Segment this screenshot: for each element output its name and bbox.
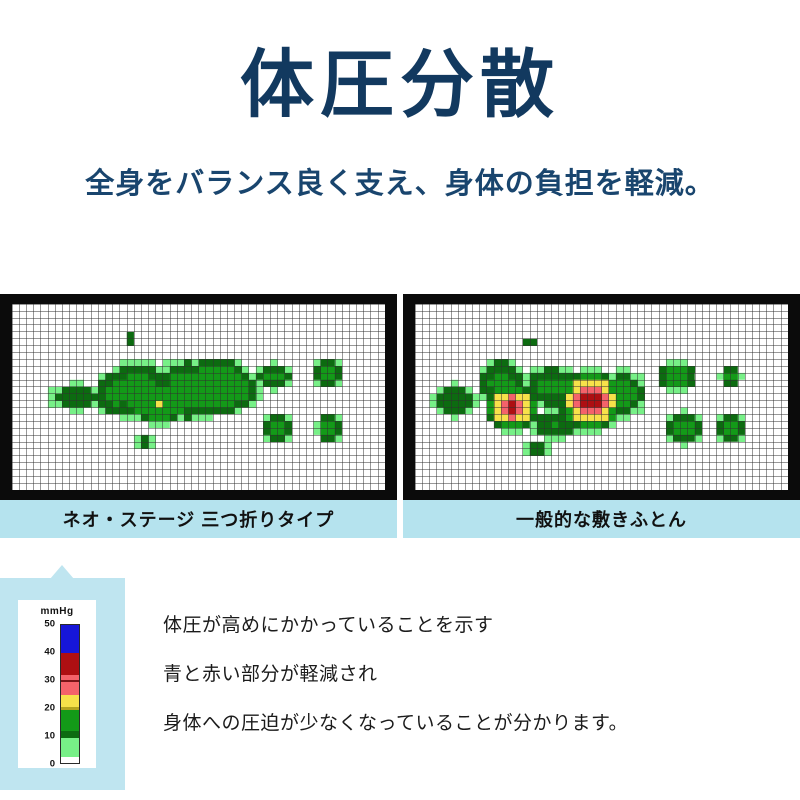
legend-tick-10: 10	[44, 731, 55, 742]
legend-band-green	[61, 710, 79, 731]
description-line-3: 身体への圧迫が少なくなっていることが分かります。	[163, 714, 773, 733]
legend-unit-label: mmHg	[18, 606, 96, 617]
description-line-2: 青と赤い部分が軽減され	[163, 665, 773, 684]
panel-caption-neo-stage: ネオ・ステージ 三つ折りタイプ	[0, 500, 397, 538]
legend-band-blue	[61, 625, 79, 653]
legend-band-dark-red	[61, 653, 79, 675]
legend-band-white	[61, 757, 79, 764]
legend-tick-0: 0	[50, 759, 55, 770]
panel-caption-standard-futon: 一般的な敷きふとん	[403, 500, 800, 538]
panel-standard-futon: 一般的な敷きふとん	[403, 294, 800, 538]
callout-arrow-icon	[50, 565, 74, 579]
legend-colorbar	[60, 624, 80, 764]
legend-band-light-green	[61, 738, 79, 756]
legend-tick-50: 50	[44, 619, 55, 630]
heatmap-frame-right	[403, 294, 800, 500]
heatmap-canvas-neo-stage	[12, 304, 385, 490]
page-subtitle: 全身をバランス良く支え、身体の負担を軽減。	[0, 166, 800, 202]
pressure-distribution-page: 体圧分散 全身をバランス良く支え、身体の負担を軽減。 ネオ・ステージ 三つ折りタ…	[0, 0, 800, 800]
page-title: 体圧分散	[0, 46, 800, 124]
legend-tick-labels: 50403020100	[18, 624, 58, 764]
legend-band-salmon	[61, 682, 79, 695]
legend-body: 50403020100	[18, 624, 96, 764]
heatmap-frame-left	[0, 294, 397, 500]
description-line-1: 体圧が高めにかかっていることを示す	[163, 616, 773, 635]
legend-tick-20: 20	[44, 703, 55, 714]
header: 体圧分散 全身をバランス良く支え、身体の負担を軽減。	[0, 0, 800, 250]
legend-callout: mmHg 50403020100	[0, 578, 125, 790]
heatmap-canvas-standard-futon	[415, 304, 788, 490]
description-block: 体圧が高めにかかっていることを示す 青と赤い部分が軽減され 身体への圧迫が少なく…	[163, 616, 773, 733]
legend-tick-40: 40	[44, 647, 55, 658]
panel-neo-stage: ネオ・ステージ 三つ折りタイプ	[0, 294, 397, 538]
comparison-panels: ネオ・ステージ 三つ折りタイプ 一般的な敷きふとん	[0, 294, 800, 538]
legend-band-dark-green	[61, 731, 79, 738]
legend-band-yellow	[61, 695, 79, 707]
legend-card: mmHg 50403020100	[18, 600, 96, 768]
legend-tick-30: 30	[44, 675, 55, 686]
